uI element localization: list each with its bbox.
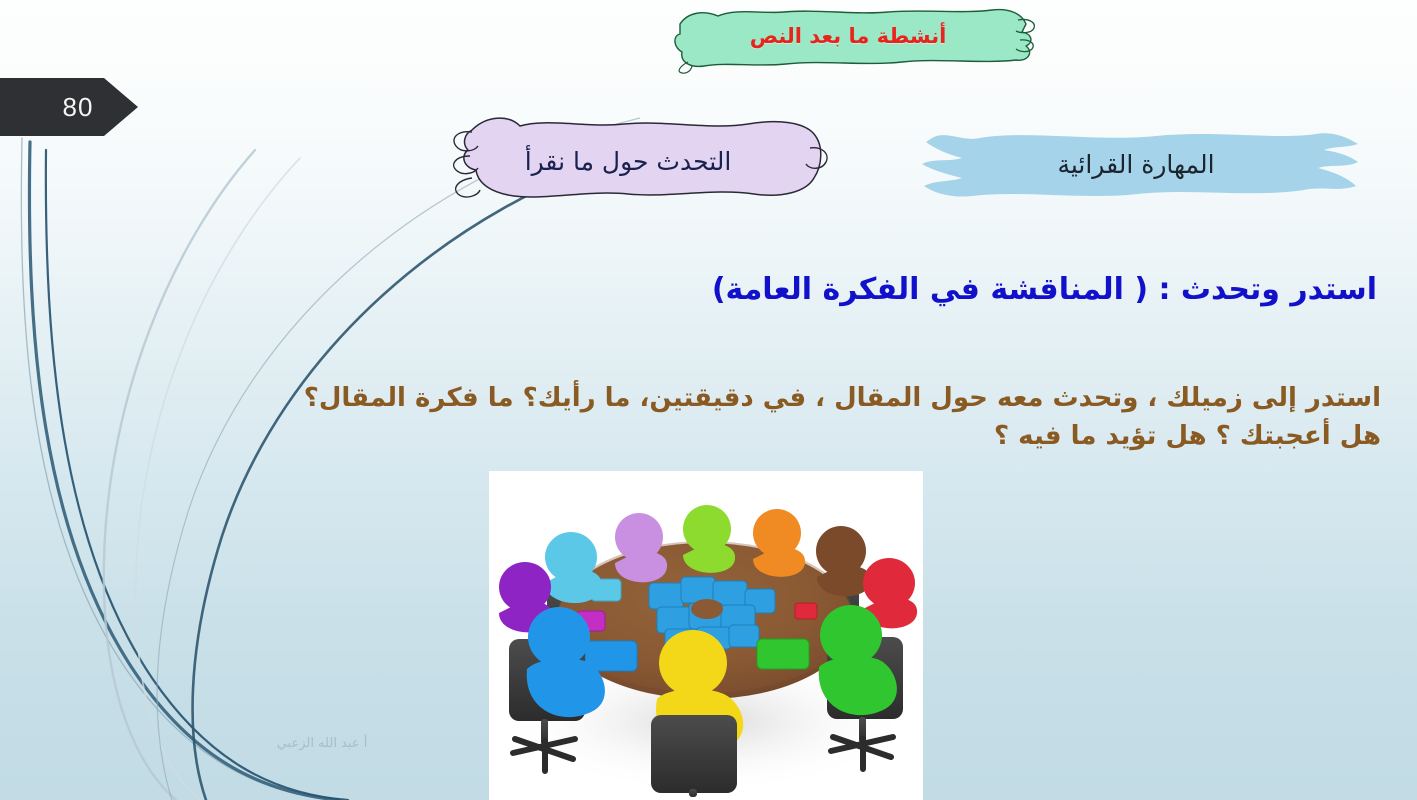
page-number-label: 80 bbox=[45, 94, 94, 120]
banner-speaking-about-reading: التحدث حول ما نقرأ bbox=[442, 112, 840, 212]
page-title: استدر وتحدث : ( المناقشة في الفكرة العام… bbox=[25, 272, 1395, 307]
banner-reading-skill: المهارة القرائية bbox=[906, 124, 1366, 208]
slide-canvas: 80 أنشطة ما بعد النص التحدث حول ما نقرأ … bbox=[0, 0, 1417, 800]
page-number-tab: 80 bbox=[0, 78, 138, 136]
instruction-paragraph: استدر إلى زميلك ، وتحدث معه حول المقال ،… bbox=[17, 380, 1395, 455]
group-discussion-image bbox=[489, 471, 923, 800]
banner-post-text-activities: أنشطة ما بعد النص bbox=[666, 2, 1044, 74]
banner-skill-label: المهارة القرائية bbox=[1057, 150, 1214, 179]
banner-speaking-label: التحدث حول ما نقرأ bbox=[525, 147, 732, 176]
author-watermark: أ عبد الله الزعبي bbox=[252, 736, 392, 751]
instruction-line-2: هل أعجبتك ؟ هل تؤيد ما فيه ؟ bbox=[17, 418, 1381, 456]
round-table-illustration bbox=[489, 471, 923, 800]
instruction-line-1: استدر إلى زميلك ، وتحدث معه حول المقال ،… bbox=[17, 380, 1381, 418]
banner-activities-label: أنشطة ما بعد النص bbox=[750, 24, 947, 48]
